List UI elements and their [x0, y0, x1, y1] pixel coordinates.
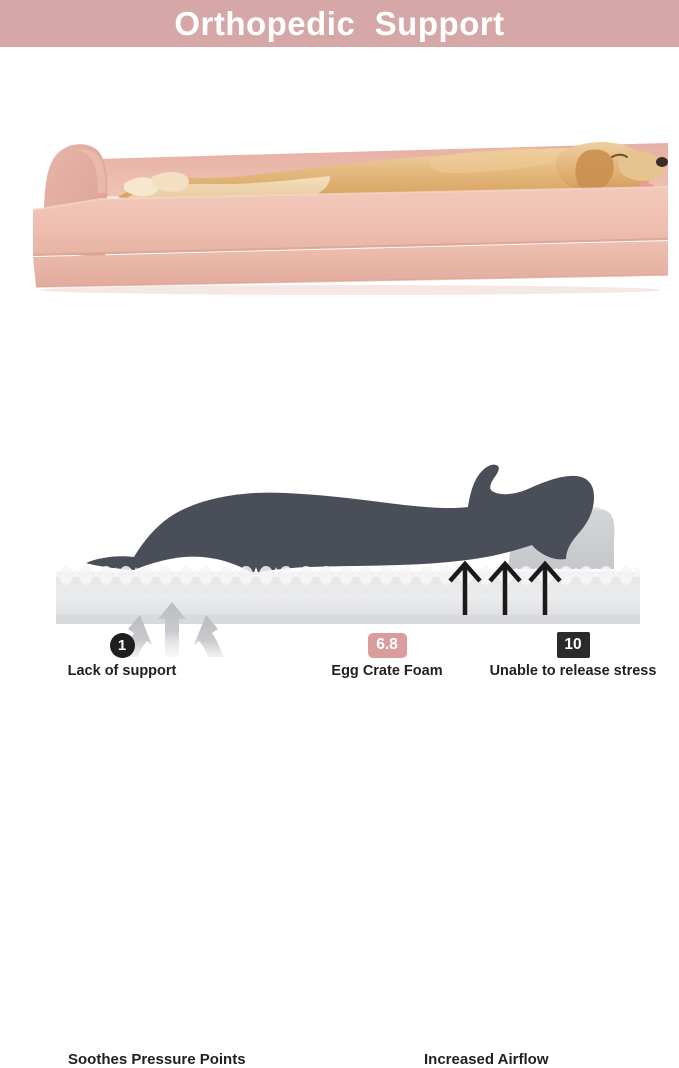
- caption-increased-airflow: Increased Airflow: [424, 1051, 548, 1068]
- caption-soothes-pressure-points: Soothes Pressure Points: [68, 1051, 246, 1068]
- hardness-scale: Too soft 1 Lack of support Moderate hard…: [0, 299, 679, 417]
- scale-stop-bottom-label: Lack of support: [37, 663, 207, 680]
- scale-badge-10: 10: [557, 632, 590, 658]
- product-photo: [0, 47, 679, 299]
- scale-badge-6-8: 6.8: [368, 633, 407, 658]
- scale-stop-bottom-label: Egg Crate Foam: [302, 663, 472, 680]
- dog-bed-photo-illustration: [0, 47, 679, 299]
- page-title: Orthopedic Support: [174, 5, 504, 43]
- scale-badge-1: 1: [110, 633, 135, 658]
- foam-cross-section-diagram: Soothes Pressure Points Increased Airflo…: [0, 417, 679, 657]
- airflow-arrows: [450, 564, 560, 615]
- foam-diagram-illustration: [0, 417, 679, 657]
- scale-stop-bottom-label: Unable to release stress: [488, 663, 658, 680]
- dog-nose: [656, 157, 668, 167]
- header-banner: Orthopedic Support: [0, 0, 679, 47]
